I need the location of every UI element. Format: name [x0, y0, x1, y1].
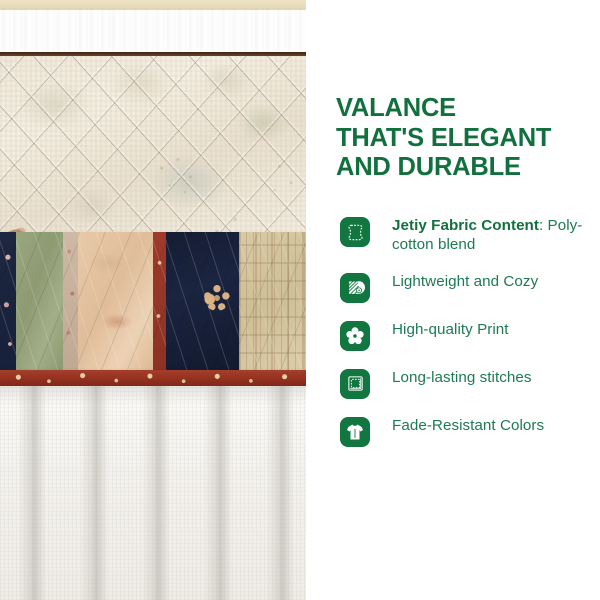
- feature-label: Fade-Resistant Colors: [392, 416, 544, 435]
- feature-label-rest: Fade-Resistant Colors: [392, 417, 544, 434]
- feature-label: Long-lasting stitches: [392, 368, 532, 387]
- feature-label-rest: Lightweight and Cozy: [392, 273, 538, 290]
- headline: VALANCE THAT'S ELEGANT AND DURABLE: [336, 94, 586, 183]
- floral-sprig: [150, 152, 208, 206]
- quilted-valance-top: [0, 56, 306, 232]
- feature-item: High-quality Print: [340, 320, 592, 351]
- fabric-roll-icon: [340, 273, 370, 303]
- patch-rose-floral: [63, 232, 78, 372]
- stitch-square-icon: [340, 369, 370, 399]
- patch-tan-plaid: [239, 232, 306, 372]
- feature-item: Jetiy Fabric Content: Poly-cotton blend: [340, 216, 592, 255]
- flower-icon: [340, 321, 370, 351]
- feature-item: Long-lasting stitches: [340, 368, 592, 399]
- feature-label: High-quality Print: [392, 320, 509, 339]
- feature-item: Fade-Resistant Colors: [340, 416, 592, 447]
- feature-item: Lightweight and Cozy: [340, 272, 592, 303]
- headline-line-1: VALANCE: [336, 94, 586, 124]
- patch-navy-flower: [166, 232, 239, 372]
- tshirt-icon: [340, 417, 370, 447]
- white-sheer-curtain: [0, 386, 306, 600]
- feature-label-rest: High-quality Print: [392, 321, 509, 338]
- leather-hide-icon: [340, 217, 370, 247]
- wooden-cornice: [0, 8, 306, 56]
- patch-navy-floral: [0, 232, 16, 372]
- patch-red: [153, 232, 166, 372]
- feature-label: Jetiy Fabric Content: Poly-cotton blend: [392, 216, 592, 255]
- product-photo: [0, 0, 306, 600]
- headline-line-2: THAT'S ELEGANT: [336, 124, 586, 154]
- headline-line-3: AND DURABLE: [336, 153, 586, 183]
- floral-sprig: [262, 148, 306, 208]
- feature-list: Jetiy Fabric Content: Poly-cotton blend: [340, 216, 592, 464]
- product-feature-graphic: VALANCE THAT'S ELEGANT AND DURABLE Jetiy…: [0, 0, 600, 600]
- feature-label: Lightweight and Cozy: [392, 272, 538, 291]
- feature-label-bold: Jetiy Fabric Content: [392, 217, 539, 234]
- text-panel: VALANCE THAT'S ELEGANT AND DURABLE Jetiy…: [306, 0, 600, 600]
- patch-peach: [78, 232, 153, 372]
- patchwork-band: [0, 232, 306, 372]
- red-floral-binding: [0, 370, 306, 386]
- feature-label-rest: Long-lasting stitches: [392, 369, 532, 386]
- patch-sage-green: [16, 232, 63, 372]
